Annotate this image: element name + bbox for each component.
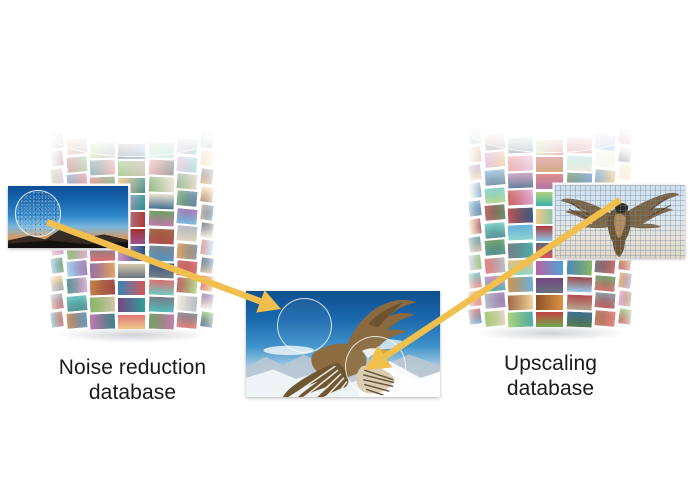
thumbnail: [467, 127, 483, 146]
thumbnail: [594, 150, 617, 169]
thumbnail: [506, 154, 534, 172]
thumbnail: [65, 259, 88, 278]
thumbnail: [117, 314, 146, 331]
thumbnail: [176, 172, 199, 191]
thumbnail: [467, 307, 483, 326]
thumbnail: [483, 168, 506, 187]
thumbnail: [88, 296, 116, 314]
thumbnail: [506, 276, 534, 294]
thumbnail: [483, 256, 506, 275]
thumbnail: [565, 293, 593, 311]
thumbnail: [49, 292, 65, 310]
noise-sample-panel: [8, 186, 128, 248]
thumbnail: [565, 276, 593, 294]
thumbnail: [594, 256, 617, 275]
label-line-2: database: [20, 380, 245, 405]
thumbnail: [483, 150, 506, 169]
thumbnail: [88, 261, 116, 279]
thumbnail: [506, 293, 534, 311]
thumbnail: [198, 132, 214, 150]
thumbnail: [616, 163, 632, 182]
thumbnail: [117, 297, 146, 314]
upscaling-database-label: Upscaling database: [438, 351, 663, 401]
thumbnail: [176, 189, 199, 208]
thumbnail: [198, 256, 214, 274]
thumbnail: [506, 224, 534, 242]
thumbnail: [176, 137, 199, 156]
thumbnail: [467, 253, 483, 272]
thumbnail: [147, 141, 175, 159]
thumbnail: [506, 137, 534, 155]
thumbnail: [117, 263, 146, 280]
thumbnail: [535, 156, 564, 173]
thumbnail: [147, 176, 175, 194]
thumbnail: [535, 311, 564, 328]
thumbnail: [198, 292, 214, 310]
result-photo-panel: [246, 291, 440, 397]
eagle-icon: [246, 291, 440, 397]
thumbnail: [117, 160, 146, 177]
thumbnail: [483, 133, 506, 152]
thumbnail: [467, 199, 483, 218]
thumbnail: [176, 242, 199, 261]
thumbnail: [65, 311, 88, 330]
thumbnail: [506, 310, 534, 328]
thumbnail: [467, 289, 483, 308]
thumbnail: [565, 154, 593, 172]
upscale-sample-panel: [555, 185, 685, 258]
thumbnail: [467, 235, 483, 254]
thumbnail: [147, 210, 175, 228]
diagram-canvas: Noise reduction database Upscaling datab…: [0, 0, 690, 500]
thumbnail: [49, 167, 65, 185]
thumbnail: [88, 159, 116, 177]
thumbnail: [565, 258, 593, 276]
thumbnail: [147, 227, 175, 245]
thumbnail: [65, 276, 88, 295]
thumbnail: [467, 163, 483, 182]
thumbnail: [616, 145, 632, 164]
thumbnail: [147, 244, 175, 262]
thumbnail: [176, 207, 199, 226]
thumbnail: [65, 155, 88, 174]
thumbnail: [49, 256, 65, 274]
thumbnail: [147, 313, 175, 331]
thumbnail: [198, 149, 214, 167]
thumbnail: [198, 238, 214, 256]
thumbnail: [176, 155, 199, 174]
thumbnail: [616, 307, 632, 326]
label-line-2: database: [438, 376, 663, 401]
thumbnail: [483, 238, 506, 257]
thumbnail: [535, 139, 564, 156]
noise-reduction-database-label: Noise reduction database: [20, 355, 245, 405]
noise-magnifier-circle: [15, 190, 62, 237]
thumbnail: [49, 149, 65, 167]
noise-texture: [16, 191, 61, 236]
thumbnail: [198, 310, 214, 328]
thumbnail: [483, 274, 506, 293]
thumbnail: [483, 186, 506, 205]
thumbnail: [506, 189, 534, 207]
thumbnail: [147, 278, 175, 296]
thumbnail: [198, 274, 214, 292]
thumbnail: [147, 159, 175, 177]
thumbnail: [176, 311, 199, 330]
thumbnail: [506, 206, 534, 224]
thumbnail: [467, 217, 483, 236]
tail-detail-circle: [345, 336, 406, 397]
thumbnail: [483, 309, 506, 328]
thumbnail: [565, 310, 593, 328]
thumbnail: [616, 271, 632, 290]
thumbnail: [117, 143, 146, 160]
thumbnail: [467, 145, 483, 164]
thumbnail: [506, 241, 534, 259]
thumbnail: [88, 141, 116, 159]
thumbnail: [594, 168, 617, 187]
thumbnail: [467, 271, 483, 290]
thumbnail: [506, 172, 534, 190]
thumbnail: [506, 258, 534, 276]
thumbnail: [616, 127, 632, 146]
thumbnail: [147, 193, 175, 211]
thumbnail: [594, 291, 617, 310]
thumbnail: [176, 294, 199, 313]
hawk-icon: [555, 185, 685, 258]
thumbnail: [198, 185, 214, 203]
thumbnail: [65, 137, 88, 156]
thumbnail: [483, 203, 506, 222]
thumbnail: [176, 276, 199, 295]
thumbnail: [483, 291, 506, 310]
thumbnail: [176, 259, 199, 278]
label-line-1: Upscaling: [438, 351, 663, 376]
thumbnail: [483, 221, 506, 240]
label-line-1: Noise reduction: [20, 355, 245, 380]
thumbnail: [616, 289, 632, 308]
thumbnail: [117, 280, 146, 297]
thumbnail: [147, 296, 175, 314]
thumbnail: [535, 260, 564, 277]
thumbnail: [88, 278, 116, 296]
thumbnail: [49, 132, 65, 150]
thumbnail: [198, 167, 214, 185]
thumbnail: [565, 137, 593, 155]
thumbnail: [88, 313, 116, 331]
thumbnail: [594, 309, 617, 328]
thumbnail: [198, 221, 214, 239]
thumbnail: [535, 294, 564, 311]
thumbnail: [147, 261, 175, 279]
thumbnail: [594, 274, 617, 293]
thumbnail: [535, 277, 564, 294]
thumbnail: [467, 181, 483, 200]
thumbnail: [65, 294, 88, 313]
thumbnail: [176, 224, 199, 243]
thumbnail: [49, 274, 65, 292]
thumbnail: [198, 203, 214, 221]
thumbnail: [49, 310, 65, 328]
thumbnail: [594, 133, 617, 152]
